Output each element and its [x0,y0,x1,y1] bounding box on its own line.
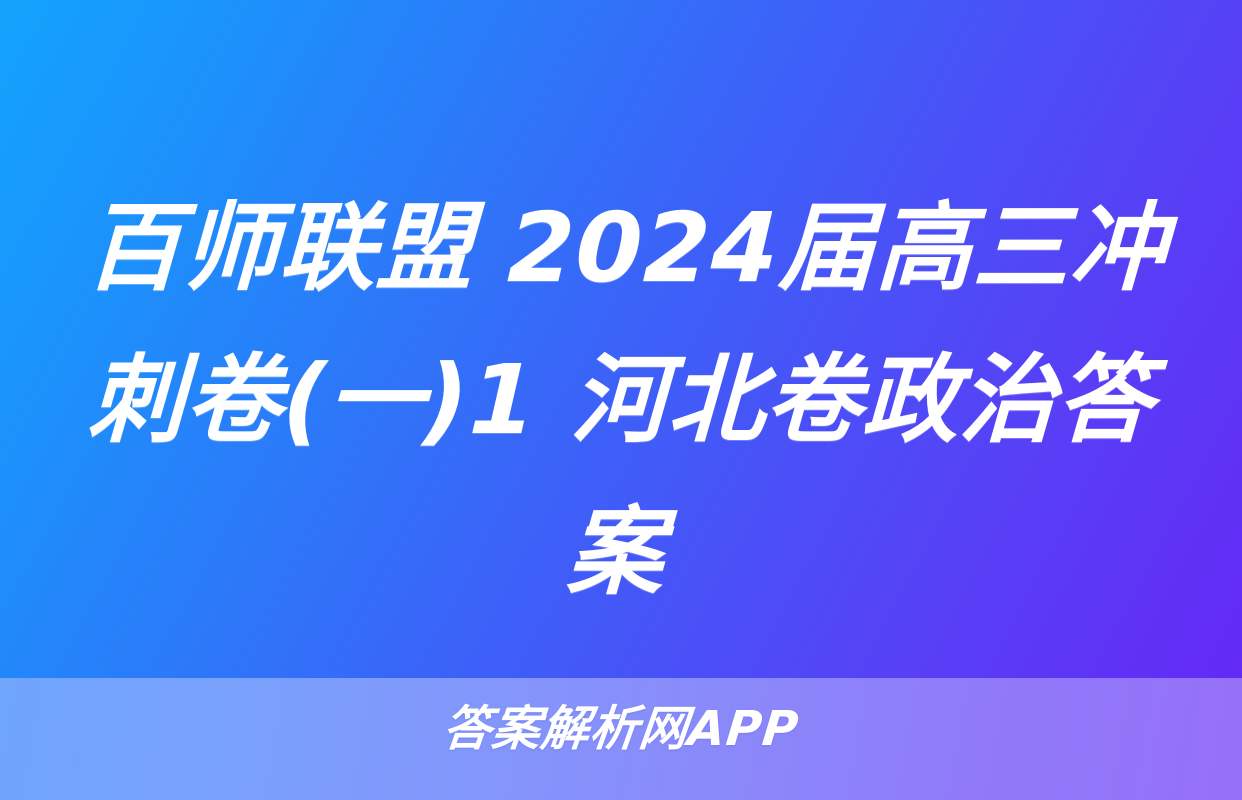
page-title: 百师联盟 2024届高三冲 刺卷(一)1 河北卷政治答 案 [0,172,1242,628]
watermark-brand: 答案解析网APP [0,700,1242,758]
title-card: 百师联盟 2024届高三冲 刺卷(一)1 河北卷政治答 案 答案解析网APP [0,0,1242,800]
title-line-3: 案 [52,476,1179,628]
title-line-2: 刺卷(一)1 河北卷政治答 [57,324,1184,476]
title-line-1: 百师联盟 2024届高三冲 [63,172,1190,324]
